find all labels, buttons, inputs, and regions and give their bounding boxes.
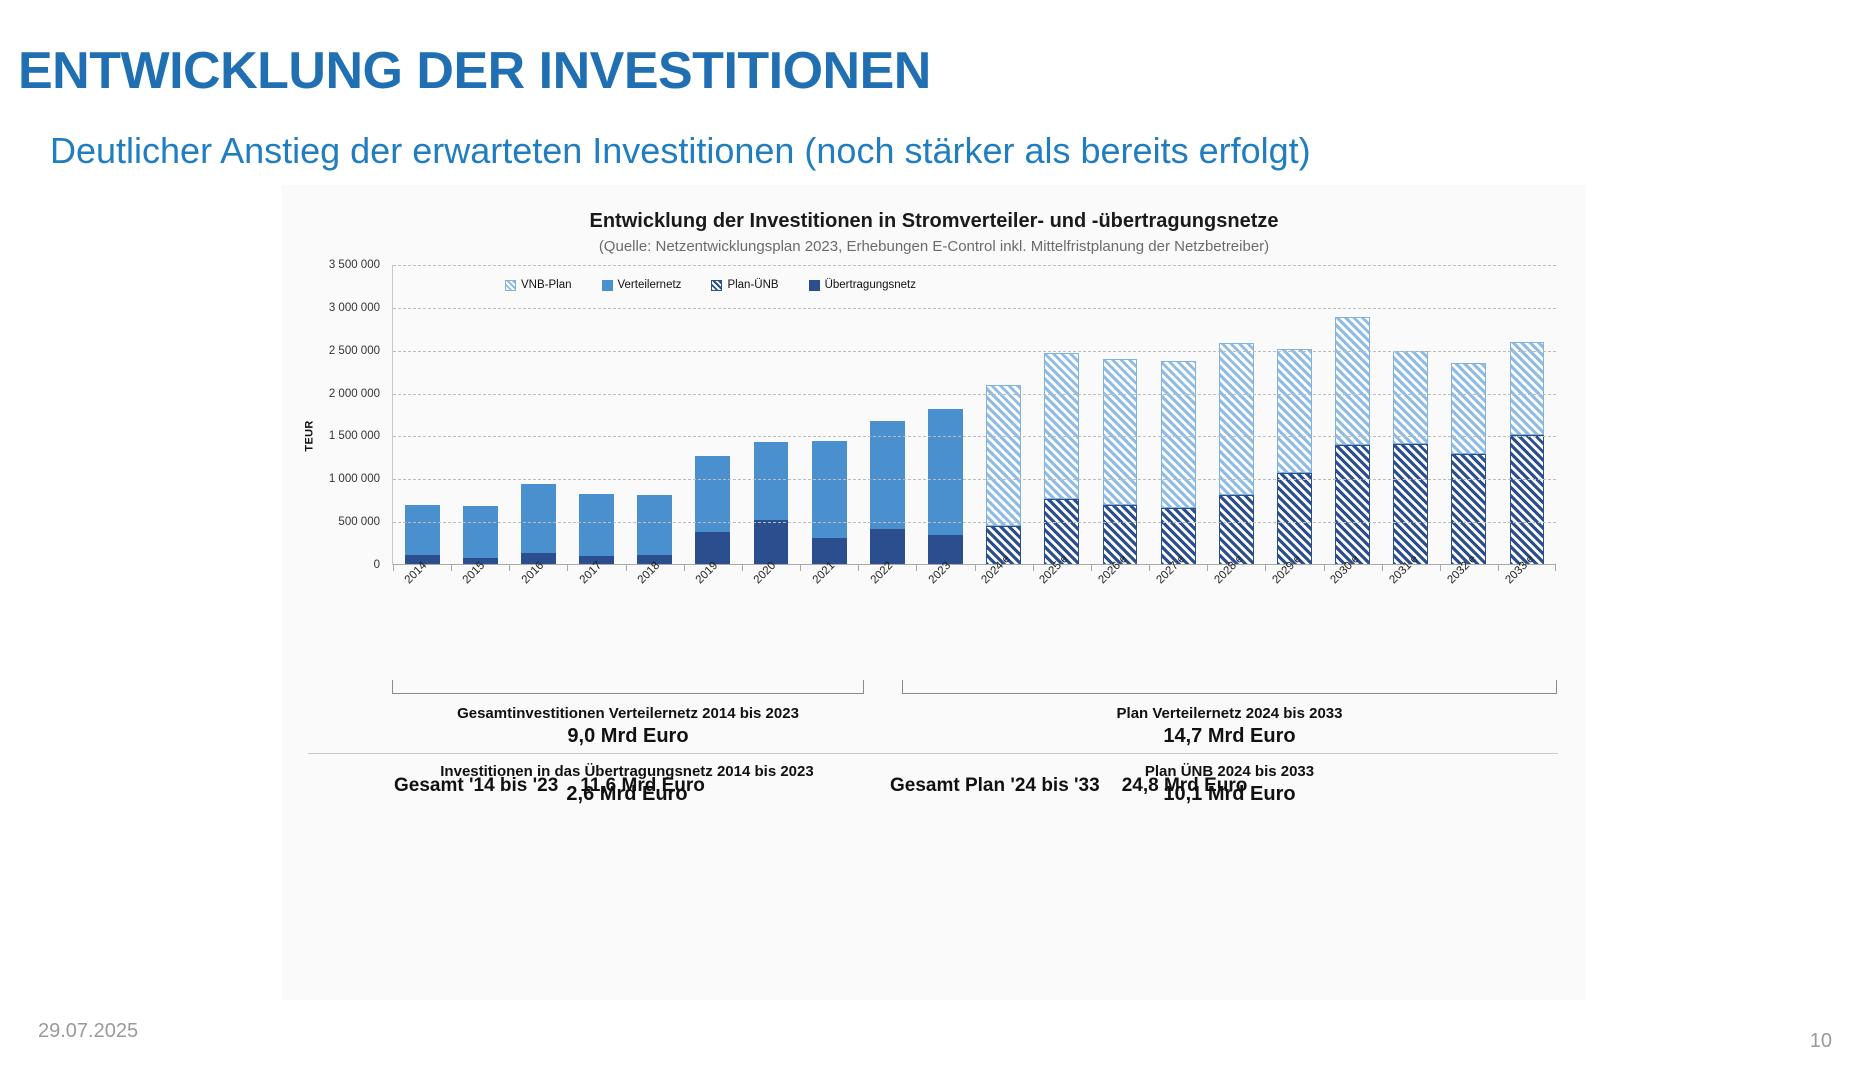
x-tickmark [916, 565, 917, 571]
y-tick-label: 1 000 000 [329, 473, 380, 485]
total-plan: Gesamt Plan '24 bis '33 24,8 Mrd Euro [890, 775, 1247, 797]
bar-segment [1510, 342, 1545, 435]
bar-segment [1335, 445, 1370, 565]
page-subtitle: Deutlicher Anstieg der erwarteten Invest… [50, 130, 1311, 172]
bar-column[interactable] [916, 265, 974, 565]
total-historic: Gesamt '14 bis '23 11,6 Mrd Euro [394, 775, 705, 797]
x-tickmark [1033, 565, 1034, 571]
gridline [393, 394, 1556, 395]
bar-column[interactable] [451, 265, 509, 565]
x-label-slot: 2021 [799, 572, 857, 632]
x-label-slot: 2023 [916, 572, 974, 632]
bar-column[interactable] [1091, 265, 1149, 565]
stacked-bar[interactable] [405, 505, 440, 565]
x-label-slot: 2033 e [1498, 572, 1556, 632]
y-tick-label: 0 [374, 559, 380, 571]
stacked-bar[interactable] [579, 494, 614, 565]
bar-segment [754, 520, 789, 565]
x-label-slot: 2025 e [1032, 572, 1090, 632]
x-label-slot: 2016 [508, 572, 566, 632]
stacked-bar[interactable] [1277, 349, 1312, 565]
bar-segment [1103, 359, 1138, 505]
bar-segment [579, 494, 614, 556]
stacked-bar[interactable] [1044, 353, 1079, 565]
footer-date: 29.07.2025 [38, 1020, 138, 1043]
x-label-slot: 2030 e [1323, 572, 1381, 632]
gridline [393, 479, 1556, 480]
stacked-bar[interactable] [1161, 361, 1196, 565]
bar-column[interactable] [858, 265, 916, 565]
bar-column[interactable] [975, 265, 1033, 565]
bar-column[interactable] [1498, 265, 1556, 565]
stacked-bar[interactable] [812, 441, 847, 565]
stacked-bar[interactable] [986, 385, 1021, 565]
plot-wrapper: TEUR 3 500 0003 000 0002 500 0002 000 00… [306, 265, 1562, 695]
summary-label: Plan Verteilernetz 2024 bis 2033 [902, 705, 1557, 722]
y-tick-label: 3 500 000 [329, 259, 380, 271]
gridline [393, 265, 1556, 266]
bar-column[interactable] [742, 265, 800, 565]
x-tickmark [451, 565, 452, 571]
x-tickmark [742, 565, 743, 571]
x-axis-ticks: 2014201520162017201820192020202120222023… [392, 572, 1556, 632]
bar-segment [637, 495, 672, 555]
bar-segment [1044, 353, 1079, 498]
bar-column[interactable] [1265, 265, 1323, 565]
total-label: Gesamt '14 bis '23 [394, 775, 558, 797]
summary-left-verteilernetz: Gesamtinvestitionen Verteilernetz 2014 b… [392, 705, 864, 748]
bar-column[interactable] [1324, 265, 1382, 565]
bar-segment [928, 409, 963, 535]
gridline [393, 308, 1556, 309]
gridline [393, 436, 1556, 437]
summary-right-verteilernetz: Plan Verteilernetz 2024 bis 2033 14,7 Mr… [902, 705, 1557, 748]
x-label-slot: 2027 e [1149, 572, 1207, 632]
gridline [393, 351, 1556, 352]
x-label-slot: 2014 [392, 572, 450, 632]
bar-column[interactable] [1382, 265, 1440, 565]
y-tick-label: 2 500 000 [329, 345, 380, 357]
total-value: 24,8 Mrd Euro [1122, 775, 1248, 797]
x-tickmark [1324, 565, 1325, 571]
x-label-slot: 2019 [683, 572, 741, 632]
x-label-slot: 2015 [450, 572, 508, 632]
bar-segment [1277, 473, 1312, 565]
bar-column[interactable] [1207, 265, 1265, 565]
bar-segment [1451, 363, 1486, 454]
bar-column[interactable] [626, 265, 684, 565]
stacked-bar[interactable] [637, 495, 672, 565]
x-label-slot: 2026 e [1090, 572, 1148, 632]
x-label-slot: 2031 e [1381, 572, 1439, 632]
total-value: 11,6 Mrd Euro [580, 775, 705, 797]
stacked-bar[interactable] [1103, 359, 1138, 565]
bar-segment [754, 442, 789, 519]
bar-segment [1335, 317, 1370, 445]
stacked-bar[interactable] [1219, 343, 1254, 565]
bar-column[interactable] [684, 265, 742, 565]
x-tickmark [1498, 565, 1499, 571]
x-label-slot: 2022 [858, 572, 916, 632]
stacked-bar[interactable] [928, 409, 963, 565]
stacked-bar[interactable] [521, 484, 556, 565]
x-tickmark [1207, 565, 1208, 571]
y-axis-ticks: 3 500 0003 000 0002 500 0002 000 0001 50… [306, 265, 386, 565]
stacked-bar[interactable] [754, 442, 789, 565]
chart-source-note: (Quelle: Netzentwicklungsplan 2023, Erhe… [282, 238, 1586, 255]
x-axis-line [393, 564, 1556, 565]
summary-value: 9,0 Mrd Euro [392, 725, 864, 748]
x-tickmark [1149, 565, 1150, 571]
bar-segment [521, 484, 556, 553]
x-tickmark [1265, 565, 1266, 571]
bracket-historic [392, 680, 864, 694]
x-tickmark [1555, 565, 1556, 571]
stacked-bar[interactable] [463, 506, 498, 565]
y-tick-label: 500 000 [338, 516, 380, 528]
x-label-slot: 2032 e [1440, 572, 1498, 632]
bar-segment [1510, 435, 1545, 565]
chart-title: Entwicklung der Investitionen in Stromve… [282, 210, 1586, 233]
bar-segment [986, 385, 1021, 526]
bar-segment [1161, 361, 1196, 509]
bar-segment [463, 506, 498, 558]
stacked-bar[interactable] [1510, 342, 1545, 565]
bar-segment [405, 505, 440, 555]
y-tick-label: 1 500 000 [329, 430, 380, 442]
x-tickmark [975, 565, 976, 571]
stacked-bar[interactable] [870, 421, 905, 565]
x-label-slot: 2018 [625, 572, 683, 632]
bar-segment [1219, 343, 1254, 495]
bar-column[interactable] [1149, 265, 1207, 565]
stacked-bar[interactable] [1335, 317, 1370, 565]
page-title: ENTWICKLUNG DER INVESTITIONEN [18, 41, 931, 101]
bar-column[interactable] [800, 265, 858, 565]
y-tick-label: 3 000 000 [329, 302, 380, 314]
summary-value: 14,7 Mrd Euro [902, 725, 1557, 748]
summary-label: Gesamtinvestitionen Verteilernetz 2014 b… [392, 705, 864, 722]
bar-column[interactable] [509, 265, 567, 565]
x-tickmark [1382, 565, 1383, 571]
x-label-slot: 2017 [567, 572, 625, 632]
x-label-slot: 2029 e [1265, 572, 1323, 632]
x-tickmark [800, 565, 801, 571]
bar-column[interactable] [393, 265, 451, 565]
bar-segment [1393, 444, 1428, 565]
x-label-slot: 2028 e [1207, 572, 1265, 632]
bar-group [393, 265, 1556, 565]
x-tickmark [1091, 565, 1092, 571]
bar-segment [695, 456, 730, 532]
total-label: Gesamt Plan '24 bis '33 [890, 775, 1100, 797]
summary-divider [308, 753, 1558, 754]
bar-segment [1277, 349, 1312, 473]
bar-column[interactable] [1033, 265, 1091, 565]
x-tickmark [1440, 565, 1441, 571]
stacked-bar[interactable] [1393, 351, 1428, 565]
x-tickmark [509, 565, 510, 571]
x-label-slot: 2020 [741, 572, 799, 632]
x-tickmark [684, 565, 685, 571]
bar-segment [1393, 351, 1428, 444]
x-tickmark [567, 565, 568, 571]
plot-area: VNB-PlanVerteilernetzPlan-ÜNBÜbertragung… [392, 265, 1556, 565]
gridline [393, 522, 1556, 523]
x-tickmark [393, 565, 394, 571]
x-label-slot: 2024 e [974, 572, 1032, 632]
bar-segment [1451, 454, 1486, 565]
bracket-plan [902, 680, 1557, 694]
footer-page-number: 10 [1810, 1030, 1832, 1053]
x-tickmark [858, 565, 859, 571]
bar-column[interactable] [1440, 265, 1498, 565]
chart-panel: Entwicklung der Investitionen in Stromve… [282, 185, 1586, 1000]
x-tickmark [626, 565, 627, 571]
stacked-bar[interactable] [695, 456, 730, 565]
bar-column[interactable] [567, 265, 625, 565]
y-tick-label: 2 000 000 [329, 388, 380, 400]
